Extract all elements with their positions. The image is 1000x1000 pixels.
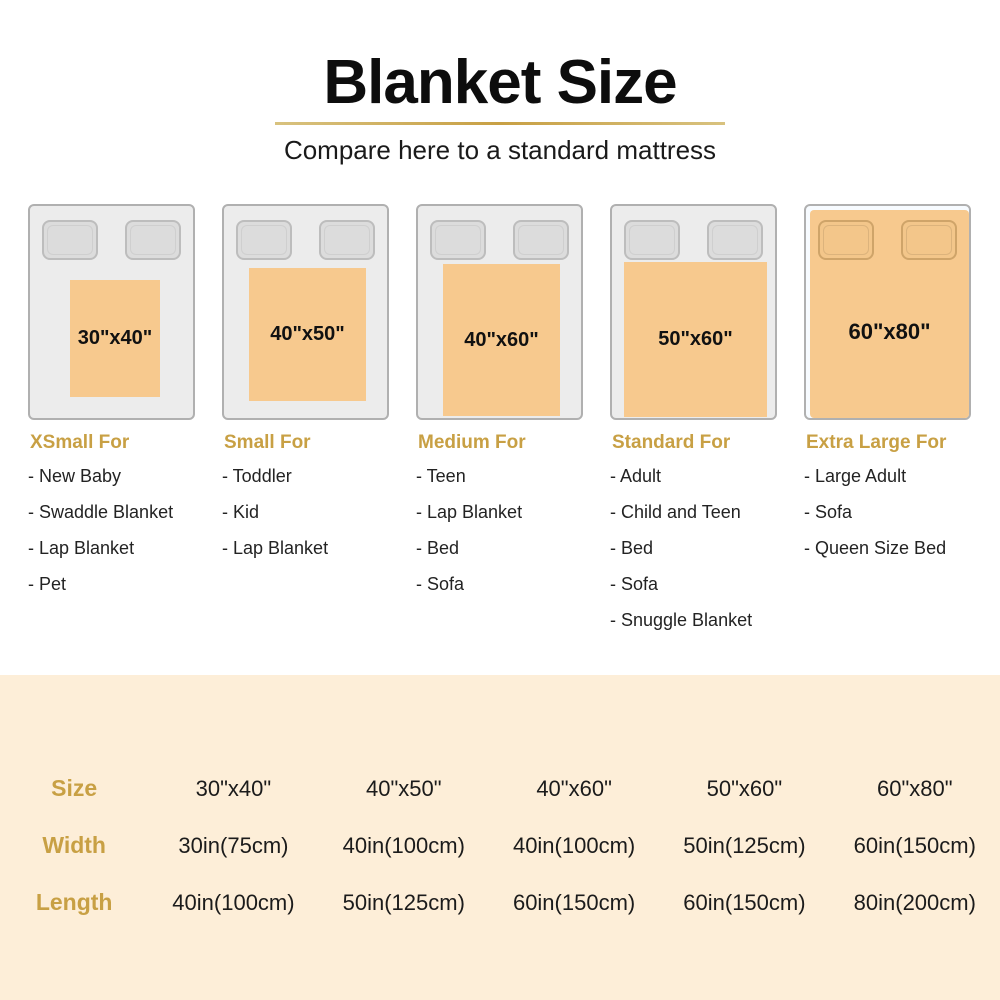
bed-diagram: 40"x60" xyxy=(416,204,610,424)
table-row-label: Width xyxy=(0,817,148,874)
category-title: Standard For xyxy=(612,432,804,454)
blanket-rect: 50"x60" xyxy=(624,262,767,417)
page-header: Blanket Size Compare here to a standard … xyxy=(0,0,1000,166)
use-item: - Bed xyxy=(610,538,804,559)
mattress: 30"x40" xyxy=(28,204,195,420)
use-item: - Pet xyxy=(28,574,222,595)
category-column: XSmall For- New Baby- Swaddle Blanket- L… xyxy=(28,432,222,646)
category-column: Extra Large For- Large Adult- Sofa- Quee… xyxy=(804,432,998,646)
blanket-size-label: 50"x60" xyxy=(658,328,733,351)
title-underline xyxy=(275,122,725,125)
table-cell: 40in(100cm) xyxy=(489,817,659,874)
pillow-right xyxy=(125,220,181,260)
use-item: - Child and Teen xyxy=(610,502,804,523)
table-cell: 40in(100cm) xyxy=(319,817,489,874)
table-row: Size30"x40"40"x50"40"x60"50"x60"60"x80" xyxy=(0,760,1000,817)
category-use-list: - Adult- Child and Teen- Bed- Sofa- Snug… xyxy=(610,466,804,631)
pillow-left xyxy=(818,220,874,260)
category-use-list: - Large Adult- Sofa- Queen Size Bed xyxy=(804,466,998,559)
table-cell: 60in(150cm) xyxy=(489,874,659,931)
pillow-left xyxy=(42,220,98,260)
category-column: Small For- Toddler- Kid- Lap Blanket xyxy=(222,432,416,646)
category-title: Extra Large For xyxy=(806,432,998,454)
use-item: - Sofa xyxy=(804,502,998,523)
blanket-rect: 40"x50" xyxy=(249,268,366,401)
table-row-label: Size xyxy=(0,760,148,817)
use-item: - Sofa xyxy=(610,574,804,595)
table-cell: 30in(75cm) xyxy=(148,817,318,874)
category-use-list: - Toddler- Kid- Lap Blanket xyxy=(222,466,416,559)
pillow-left xyxy=(624,220,680,260)
table-cell: 60in(150cm) xyxy=(659,874,829,931)
category-use-list: - New Baby- Swaddle Blanket- Lap Blanket… xyxy=(28,466,222,595)
bed-diagram: 60"x80" xyxy=(804,204,998,424)
use-item: - Lap Blanket xyxy=(222,538,416,559)
blanket-size-label: 30"x40" xyxy=(78,327,153,350)
table-cell: 40"x60" xyxy=(489,760,659,817)
category-column: Standard For- Adult- Child and Teen- Bed… xyxy=(610,432,804,646)
use-item: - Kid xyxy=(222,502,416,523)
use-item: - Teen xyxy=(416,466,610,487)
table-cell: 40in(100cm) xyxy=(148,874,318,931)
table-row: Length40in(100cm)50in(125cm)60in(150cm)6… xyxy=(0,874,1000,931)
use-item: - Toddler xyxy=(222,466,416,487)
table-cell: 40"x50" xyxy=(319,760,489,817)
table-cell: 50in(125cm) xyxy=(319,874,489,931)
mattress: 40"x50" xyxy=(222,204,389,420)
size-table-band: Size30"x40"40"x50"40"x60"50"x60"60"x80"W… xyxy=(0,675,1000,1000)
page-subtitle: Compare here to a standard mattress xyxy=(0,135,1000,166)
page-title: Blanket Size xyxy=(0,0,1000,114)
category-use-list: - Teen- Lap Blanket- Bed- Sofa xyxy=(416,466,610,595)
category-title: XSmall For xyxy=(30,432,222,454)
bed-diagram: 50"x60" xyxy=(610,204,804,424)
table-cell: 60in(150cm) xyxy=(830,817,1000,874)
use-item: - Swaddle Blanket xyxy=(28,502,222,523)
blanket-rect: 30"x40" xyxy=(70,280,160,397)
pillow-left xyxy=(430,220,486,260)
mattress: 50"x60" xyxy=(610,204,777,420)
pillow-right xyxy=(319,220,375,260)
table-cell: 30"x40" xyxy=(148,760,318,817)
use-item: - Queen Size Bed xyxy=(804,538,998,559)
table-row: Width30in(75cm)40in(100cm)40in(100cm)50i… xyxy=(0,817,1000,874)
bed-diagram: 40"x50" xyxy=(222,204,416,424)
size-table: Size30"x40"40"x50"40"x60"50"x60"60"x80"W… xyxy=(0,760,1000,931)
pillow-right xyxy=(513,220,569,260)
table-cell: 80in(200cm) xyxy=(830,874,1000,931)
bed-diagram: 30"x40" xyxy=(28,204,222,424)
use-item: - New Baby xyxy=(28,466,222,487)
pillow-right xyxy=(901,220,957,260)
table-cell: 60"x80" xyxy=(830,760,1000,817)
category-title: Medium For xyxy=(418,432,610,454)
mattress: 60"x80" xyxy=(804,204,971,420)
table-cell: 50in(125cm) xyxy=(659,817,829,874)
category-column: Medium For- Teen- Lap Blanket- Bed- Sofa xyxy=(416,432,610,646)
use-item: - Large Adult xyxy=(804,466,998,487)
use-item: - Snuggle Blanket xyxy=(610,610,804,631)
use-item: - Bed xyxy=(416,538,610,559)
pillow-left xyxy=(236,220,292,260)
blanket-size-label: 40"x50" xyxy=(270,323,345,346)
table-cell: 50"x60" xyxy=(659,760,829,817)
use-item: - Adult xyxy=(610,466,804,487)
pillow-right xyxy=(707,220,763,260)
mattress: 40"x60" xyxy=(416,204,583,420)
blanket-size-label: 40"x60" xyxy=(464,329,539,352)
blanket-rect: 40"x60" xyxy=(443,264,560,416)
category-title: Small For xyxy=(224,432,416,454)
bed-diagram-row: 30"x40"40"x50"40"x60"50"x60"60"x80" xyxy=(0,204,1000,424)
use-item: - Lap Blanket xyxy=(416,502,610,523)
use-item: - Lap Blanket xyxy=(28,538,222,559)
table-row-label: Length xyxy=(0,874,148,931)
blanket-size-label: 60"x80" xyxy=(848,319,930,345)
use-item: - Sofa xyxy=(416,574,610,595)
category-row: XSmall For- New Baby- Swaddle Blanket- L… xyxy=(0,432,1000,646)
